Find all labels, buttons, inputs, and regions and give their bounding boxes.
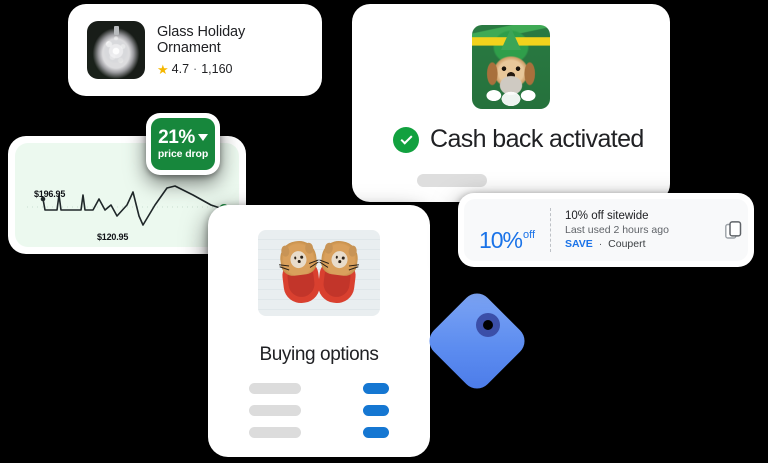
price-line [43, 186, 223, 225]
star-icon: ★ [157, 63, 169, 76]
dog-elf-hat-image [472, 25, 550, 109]
cashback-card-inner: Cash back activated [359, 11, 663, 195]
slipper-eye [342, 256, 345, 259]
option-label-placeholder [249, 427, 301, 438]
coupon-meta: SAVE · Coupert [565, 238, 718, 250]
cashback-status-row: Cash back activated [393, 125, 663, 154]
skeleton-line [417, 174, 487, 187]
ornament-thumbnail-image [87, 21, 145, 79]
slipper-face [331, 250, 349, 269]
slipper-ear [324, 242, 333, 254]
slipper-eye [294, 256, 297, 259]
list-item[interactable] [249, 383, 389, 394]
price-drop-badge[interactable]: 21% price drop [146, 113, 220, 175]
option-label-placeholder [249, 383, 301, 394]
slipper-whisker [349, 266, 359, 270]
cashback-card[interactable]: Cash back activated [352, 4, 670, 202]
coupon-discount-block: 10% off [464, 209, 550, 252]
slipper-ear [348, 245, 357, 257]
price-drop-percent: 21% [158, 128, 195, 147]
price-drop-label: price drop [158, 148, 208, 160]
coupon-save-link[interactable]: SAVE [565, 238, 593, 250]
slipper-fur [278, 239, 318, 277]
coupon-headline: 10% off sitewide [565, 210, 718, 222]
slipper-right [316, 239, 359, 305]
check-circle-icon [393, 127, 419, 153]
coupon-card[interactable]: 10% off 10% off sitewide Last used 2 hou… [458, 193, 754, 267]
coupon-discount-suffix: off [523, 229, 535, 241]
coupon-source: Coupert [608, 238, 645, 250]
option-action-button[interactable] [363, 405, 389, 416]
slipper-face [290, 250, 308, 269]
check-mark [400, 132, 412, 144]
rating-value: 4.7 [172, 62, 189, 76]
coupon-discount-value: 10% [479, 229, 522, 252]
elf-hat-peak [501, 28, 521, 50]
product-info: Glass Holiday Ornament ★ 4.7 · 1,160 [157, 24, 303, 76]
slipper-nose [338, 260, 341, 263]
cashback-title: Cash back activated [430, 125, 644, 154]
product-rating: ★ 4.7 · 1,160 [157, 62, 303, 76]
product-card-inner: Glass Holiday Ornament ★ 4.7 · 1,160 [75, 11, 315, 89]
slipper-nose [297, 260, 300, 263]
product-card[interactable]: Glass Holiday Ornament ★ 4.7 · 1,160 [68, 4, 322, 96]
price-tag-hole [483, 320, 493, 330]
buying-options-title: Buying options [215, 344, 423, 366]
slippers-image [258, 230, 380, 316]
low-price-label: $120.95 [97, 232, 128, 242]
coupon-subtext: Last used 2 hours ago [565, 224, 718, 236]
slipper-left [278, 239, 321, 305]
caret-down-icon [198, 134, 208, 141]
price-tag-icon [422, 286, 532, 396]
copy-icon[interactable] [718, 221, 748, 240]
copy-glyph [725, 221, 742, 240]
price-drop-badge-body: 21% price drop [151, 118, 215, 170]
slipper-eye [300, 256, 303, 259]
option-action-button[interactable] [363, 427, 389, 438]
list-item[interactable] [249, 405, 389, 416]
ornament-cap [114, 26, 119, 35]
option-label-placeholder [249, 405, 301, 416]
buying-options-inner: Buying options [215, 212, 423, 450]
buying-options-list [215, 383, 423, 438]
slipper-whisker [280, 266, 290, 270]
coupon-details: 10% off sitewide Last used 2 hours ago S… [551, 210, 718, 250]
product-title: Glass Holiday Ornament [157, 24, 303, 56]
price-drop-percent-row: 21% [158, 128, 208, 147]
slipper-fur [320, 239, 360, 277]
list-item[interactable] [249, 427, 389, 438]
option-action-button[interactable] [363, 383, 389, 394]
slipper-ear [305, 242, 314, 254]
rating-separator: · [193, 62, 197, 76]
coupon-meta-dot: · [599, 238, 603, 250]
slipper-ear [281, 245, 290, 257]
coupon-card-inner: 10% off 10% off sitewide Last used 2 hou… [464, 199, 748, 261]
review-count: 1,160 [201, 62, 232, 76]
composite-illustration: Glass Holiday Ornament ★ 4.7 · 1,160 $19… [0, 0, 768, 463]
slipper-eye [335, 256, 338, 259]
buying-options-card[interactable]: Buying options [208, 205, 430, 457]
high-price-label: $196.95 [34, 189, 65, 199]
